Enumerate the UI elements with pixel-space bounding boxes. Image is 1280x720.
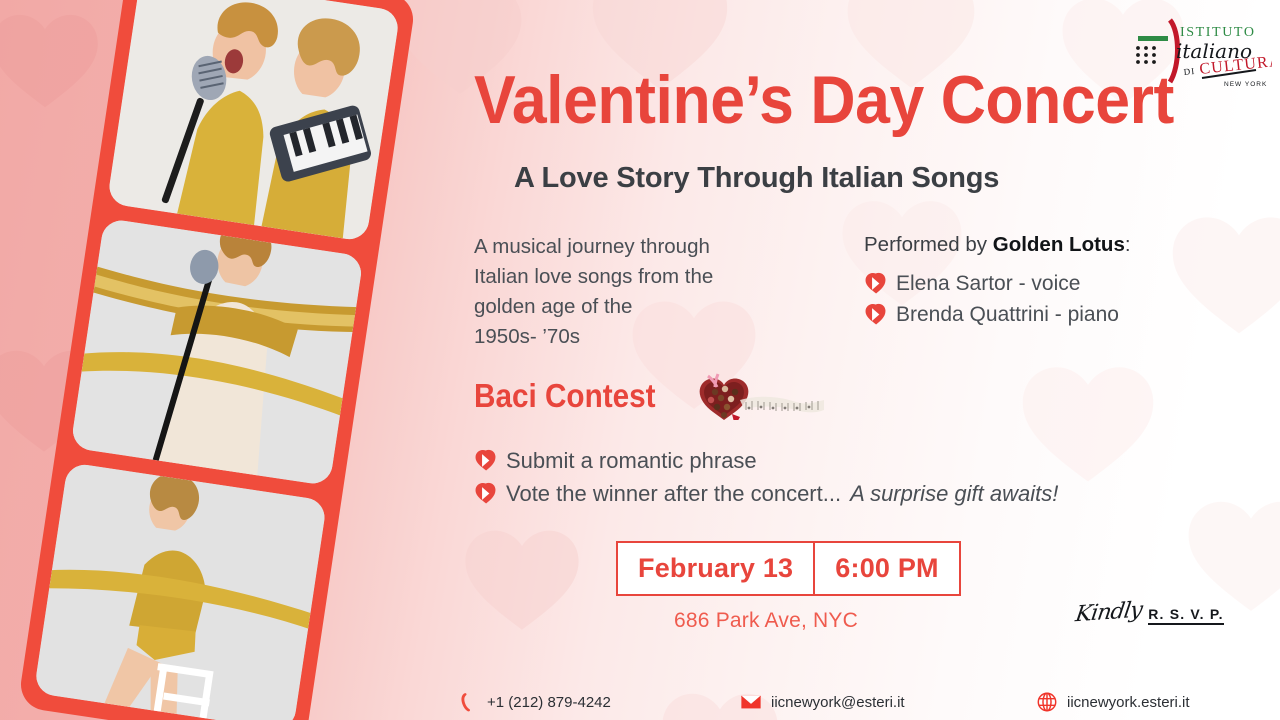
event-date-time-badge: February 13 6:00 PM <box>616 541 961 596</box>
list-item: Vote the winner after the concert...A su… <box>474 477 1058 510</box>
description-line: 1950s- ’70s <box>474 322 804 352</box>
description-line: Italian love songs from the <box>474 262 804 292</box>
rsvp-note: Kindly R. S. V. P. <box>1076 600 1224 625</box>
performed-by-line: Performed by Golden Lotus: <box>864 232 1264 258</box>
chevron-heart-bullet-icon <box>864 303 887 326</box>
performers-block: Performed by Golden Lotus: Elena Sartor … <box>864 232 1264 330</box>
photo-performer-seated-in-gold-dress <box>34 463 328 720</box>
page-title: Valentine’s Day Concert <box>474 64 1174 136</box>
photo-singer-on-mic-stand-with-gold-fabric <box>70 218 364 487</box>
contact-phone[interactable]: +1 (212) 879-4242 <box>456 691 611 713</box>
description-line: A musical journey through <box>474 232 804 262</box>
list-item: Submit a romantic phrase <box>474 444 1058 477</box>
rsvp-letters: R. S. V. P. <box>1148 606 1223 625</box>
contest-steps-list: Submit a romantic phrase Vote the winner… <box>474 444 1058 510</box>
email-address: iicnewyork@esteri.it <box>771 694 905 711</box>
chevron-heart-bullet-icon <box>474 449 497 472</box>
heart-watermark <box>0 10 100 110</box>
baci-contest-title: Baci Contest <box>474 377 656 415</box>
description-block: A musical journey through Italian love s… <box>474 232 804 352</box>
heart-chocolate-box-icon <box>680 372 840 420</box>
baci-contest-heading-row: Baci Contest <box>474 372 840 420</box>
chevron-heart-bullet-icon <box>864 272 887 295</box>
performed-by-prefix: Performed by <box>864 233 993 256</box>
contact-email[interactable]: iicnewyork@esteri.it <box>740 691 905 713</box>
main-content: Valentine’s Day Concert A Love Story Thr… <box>456 0 1280 720</box>
rsvp-kindly-script: Kindly <box>1074 598 1144 627</box>
list-item: Brenda Quattrini - piano <box>864 299 1264 330</box>
contest-step-label: Submit a romantic phrase <box>506 444 757 477</box>
performed-by-suffix: : <box>1125 233 1131 256</box>
phone-number: +1 (212) 879-4242 <box>487 694 611 711</box>
contact-website[interactable]: iicnewyork.esteri.it <box>1036 691 1190 713</box>
performer-name: Brenda Quattrini - piano <box>896 299 1119 330</box>
website-url: iicnewyork.esteri.it <box>1067 694 1190 711</box>
performer-group-name: Golden Lotus <box>993 233 1125 256</box>
page-subtitle: A Love Story Through Italian Songs <box>514 162 999 195</box>
list-item: Elena Sartor - voice <box>864 268 1264 299</box>
contest-step-emphasis: A surprise gift awaits! <box>850 477 1058 510</box>
chevron-heart-bullet-icon <box>474 482 497 505</box>
event-venue: 686 Park Ave, NYC <box>456 609 1076 633</box>
performer-list: Elena Sartor - voice Brenda Quattrini - … <box>864 268 1264 330</box>
envelope-icon <box>740 691 762 713</box>
description-line: golden age of the <box>474 292 804 322</box>
globe-icon <box>1036 691 1058 713</box>
photo-strip <box>17 0 416 720</box>
event-time: 6:00 PM <box>815 543 958 594</box>
contest-step-label: Vote the winner after the concert... <box>506 477 841 510</box>
phone-icon <box>456 691 478 713</box>
poster-canvas: ISTITUTO italiano DI CULTURA NEW YORK Va… <box>0 0 1280 720</box>
event-date: February 13 <box>618 543 813 594</box>
photo-singer-with-microphone-and-keyboardist <box>107 0 401 241</box>
performer-name: Elena Sartor - voice <box>896 268 1080 299</box>
